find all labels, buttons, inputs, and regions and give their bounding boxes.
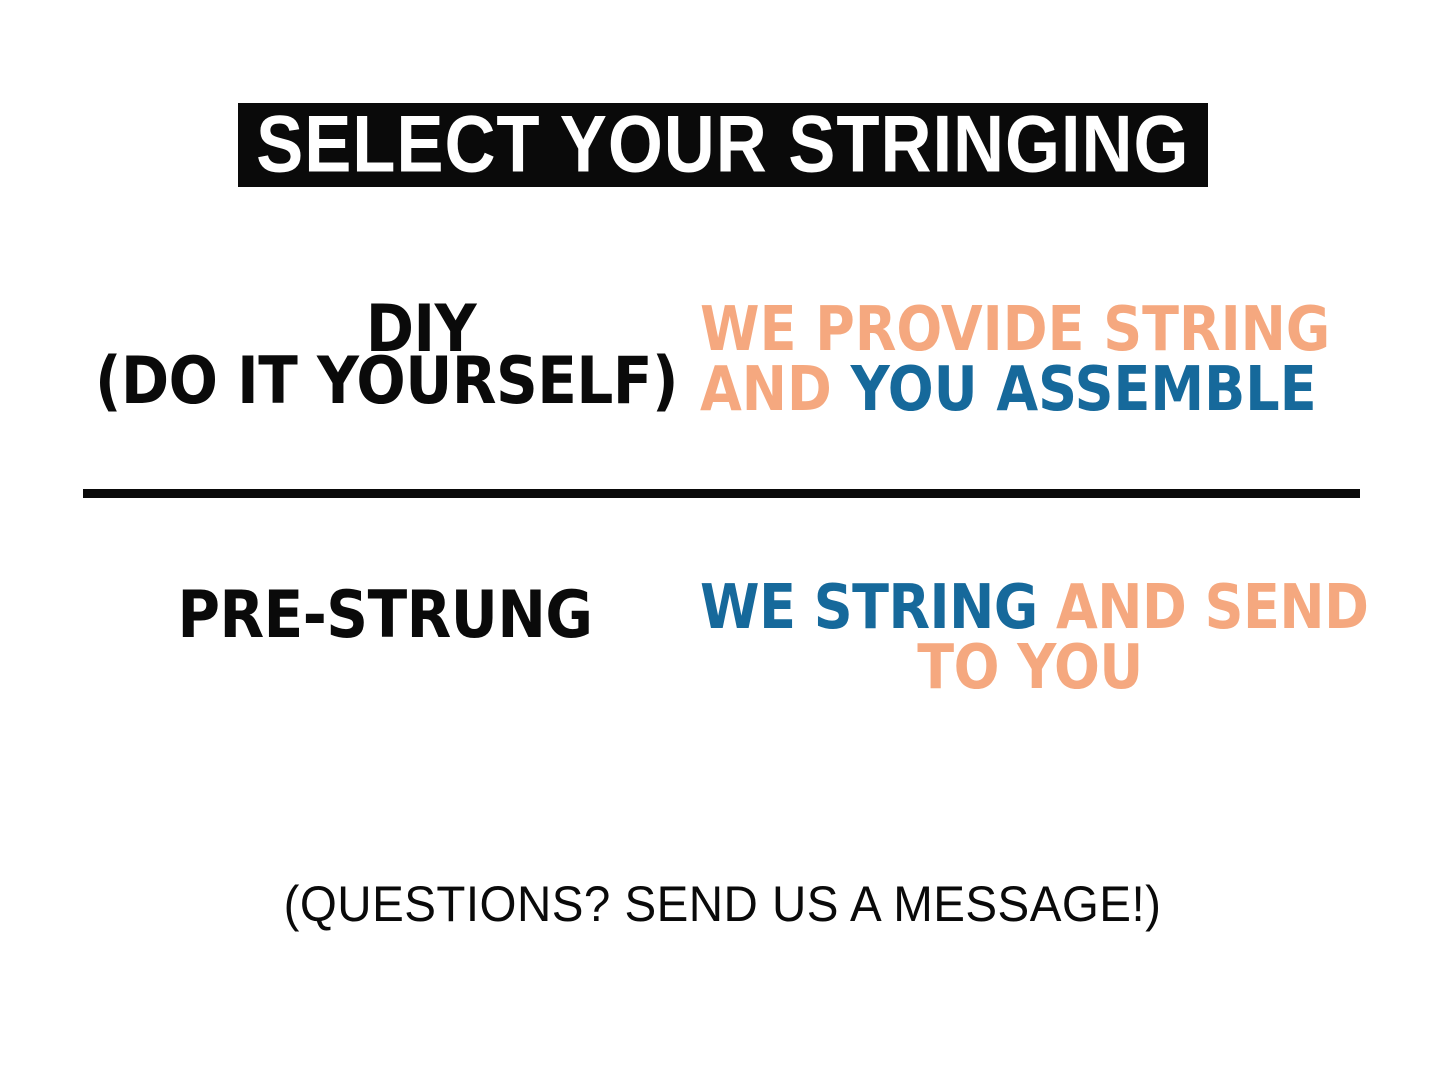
option-diy-description-line-2: AND YOU ASSEMBLE: [700, 360, 1328, 419]
option-diy-description-line-1: WE PROVIDE STRING: [700, 300, 1328, 359]
poster-canvas: SELECT YOUR STRINGING DIY (DO IT YOURSEL…: [0, 0, 1445, 1084]
option-diy-label-group: DIY (DO IT YOURSELF): [95, 296, 675, 424]
page-title: SELECT YOUR STRINGING: [256, 105, 1189, 186]
option-pre-strung-description-line-1: WE STRING AND SEND: [700, 578, 1360, 637]
option-diy-description: WE PROVIDE STRING AND YOU ASSEMBLE: [700, 300, 1328, 430]
option-pre-strung-description-line-2: TO YOU: [700, 638, 1360, 697]
option-diy-description-you-assemble: YOU ASSEMBLE: [851, 353, 1317, 425]
option-diy-description-and: AND: [700, 353, 832, 425]
title-banner: SELECT YOUR STRINGING: [238, 103, 1208, 187]
section-divider: [83, 489, 1360, 498]
option-pre-strung-description: WE STRING AND SEND TO YOU: [700, 578, 1360, 690]
option-diy-label-line-2: (DO IT YOURSELF): [95, 348, 675, 413]
option-pre-strung-label: PRE-STRUNG: [95, 582, 675, 647]
footer-note: (QUESTIONS? SEND US A MESSAGE!): [36, 876, 1409, 932]
